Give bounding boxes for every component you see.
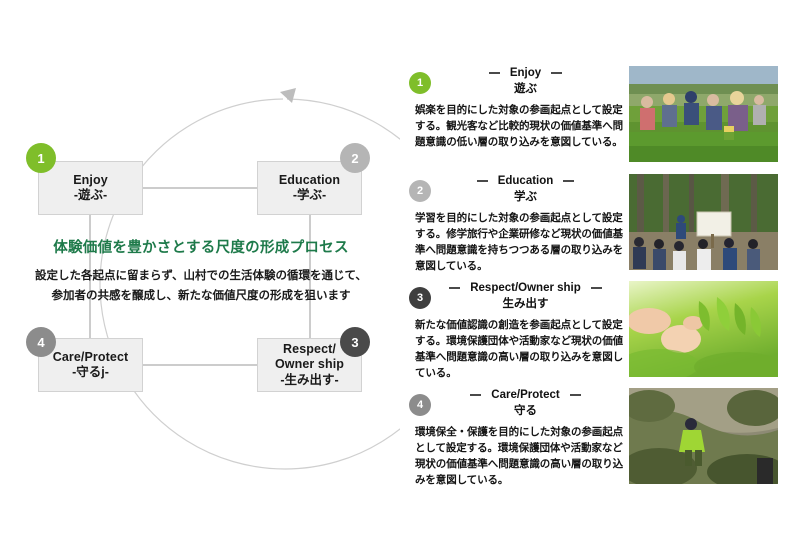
item-body-3: 新たな価値認識の創造を参画起点として設定する。環境保護団体や活動家など現状の価値… [415, 318, 623, 382]
dash-right-icon [551, 72, 562, 74]
diagram-badge-2: 2 [340, 143, 370, 173]
tea-picking-group-photo [629, 66, 778, 162]
item-body-2: 学習を目的にした対象の参画起点として設定する。修学旅行や企業研修など現状の価値基… [415, 211, 623, 275]
diagram-badge-3-number: 3 [351, 335, 358, 350]
forest-classroom-photo [629, 174, 778, 270]
node-care-en: Care/Protect [53, 350, 129, 365]
item-heading-1: Enjoy 遊ぶ [428, 67, 623, 96]
dash-right-icon [570, 394, 581, 396]
diagram-badge-3: 3 [340, 327, 370, 357]
hands-picking-leaves-photo [629, 281, 778, 377]
field-clearing-worker-photo [629, 388, 778, 484]
node-education-en: Education [279, 173, 340, 188]
item-badge-4-number: 4 [417, 399, 423, 411]
item-body-1: 娯楽を目的にした対象の参画起点として設定する。観光客など比較的現状の価値基準へ問… [415, 103, 623, 151]
item-title-jp-3: 生み出す [428, 295, 623, 311]
node-enjoy-jp: -遊ぶ- [74, 188, 107, 203]
dash-left-icon [489, 72, 500, 74]
item-title-jp-2: 学ぶ [428, 188, 623, 204]
diagram-badge-2-number: 2 [351, 151, 358, 166]
center-text-block: 体験価値を豊かさとする尺度の形成プロセス 設定した各起点に留まらず、山村での生活… [16, 236, 386, 306]
dash-left-icon [449, 287, 460, 289]
node-education-jp: -学ぶ- [293, 188, 326, 203]
diagram-badge-4: 4 [26, 327, 56, 357]
list-item: 3 Respect/Owner ship 生み出す 新たな価値認識の創造を参画起… [404, 277, 789, 385]
list-item: 4 Care/Protect 守る 環境保全・保護を目的にした対象の参画起点とし… [404, 384, 789, 492]
item-badge-1-number: 1 [417, 77, 423, 89]
detail-panel: 1 Enjoy 遊ぶ 娯楽を目的にした対象の参画起点として設定する。観光客など比… [404, 0, 789, 546]
node-respect-jp: -生み出す- [280, 373, 338, 388]
node-respect-en-line2: Owner ship [275, 357, 344, 372]
center-subtext-line1: 設定した各起点に留まらず、山村での生活体験の循環を通じて、 [16, 266, 386, 286]
item-body-4: 環境保全・保護を目的にした対象の参画起点として設定する。環境保護団体や活動家など… [415, 425, 623, 489]
item-badge-3-number: 3 [417, 292, 423, 304]
center-heading: 体験価値を豊かさとする尺度の形成プロセス [16, 236, 386, 257]
list-item: 2 Education 学ぶ 学習を目的にした対象の参画起点として設定する。修学… [404, 170, 789, 278]
item-badge-2-number: 2 [417, 185, 423, 197]
dash-left-icon [470, 394, 481, 396]
list-item: 1 Enjoy 遊ぶ 娯楽を目的にした対象の参画起点として設定する。観光客など比… [404, 62, 789, 170]
item-title-jp-4: 守る [428, 402, 623, 418]
slide-canvas: 1 2 3 4 Enjoy -遊ぶ- Education -学ぶ- Respec… [0, 0, 789, 546]
item-title-en-3: Respect/Owner ship [470, 282, 581, 294]
item-title-en-4: Care/Protect [491, 389, 559, 401]
cycle-diagram: 1 2 3 4 Enjoy -遊ぶ- Education -学ぶ- Respec… [0, 0, 400, 546]
diagram-badge-1: 1 [26, 143, 56, 173]
item-heading-3: Respect/Owner ship 生み出す [428, 282, 623, 311]
dash-right-icon [591, 287, 602, 289]
diagram-badge-1-number: 1 [37, 151, 44, 166]
center-subtext-line2: 参加者の共感を醸成し、新たな価値尺度の形成を狙います [16, 286, 386, 306]
item-heading-2: Education 学ぶ [428, 175, 623, 204]
node-enjoy-en: Enjoy [73, 173, 108, 188]
node-care-jp: -守るj- [72, 365, 109, 380]
item-title-en-1: Enjoy [510, 67, 541, 79]
cycle-arrowhead [280, 88, 296, 103]
dash-right-icon [563, 180, 574, 182]
item-title-jp-1: 遊ぶ [428, 80, 623, 96]
node-respect-en-line1: Respect/ [283, 342, 336, 357]
dash-left-icon [477, 180, 488, 182]
item-title-en-2: Education [498, 175, 554, 187]
diagram-badge-4-number: 4 [37, 335, 44, 350]
item-heading-4: Care/Protect 守る [428, 389, 623, 418]
node-enjoy[interactable]: Enjoy -遊ぶ- [38, 161, 143, 215]
